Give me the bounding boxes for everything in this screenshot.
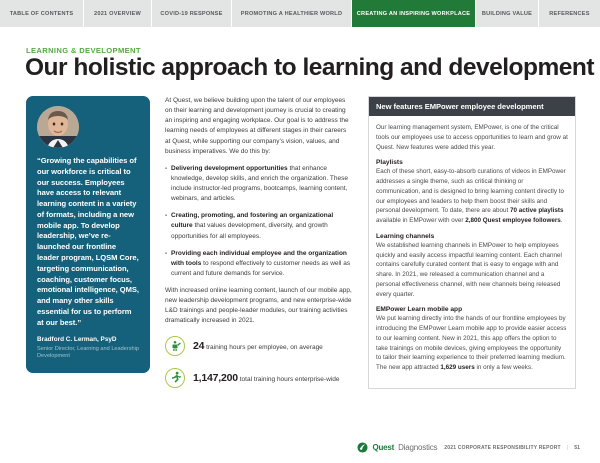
training-person-icon <box>165 336 185 356</box>
footer-report-title: 2021 CORPORATE RESPONSIBILITY REPORT <box>444 445 560 451</box>
highlight-stat: 2,800 Quest employee followers <box>465 217 561 224</box>
stat-value: 24 <box>193 340 204 352</box>
text-after: . <box>561 217 563 224</box>
intro-paragraph: At Quest, we believe building upon the t… <box>165 96 353 157</box>
nav-tab-label: PROMOTING A HEALTHIER WORLD <box>241 11 342 17</box>
text-mid: available in EMPower with over <box>376 217 465 224</box>
training-person-glyph <box>169 340 181 352</box>
stat-text: 1,147,200 total training hours enterpris… <box>193 368 339 386</box>
nav-tab-2021-overview[interactable]: 2021 OVERVIEW <box>84 0 152 27</box>
training-stats: 24 training hours per employee, on avera… <box>165 336 353 388</box>
stat-label: total training hours enterprise-wide <box>238 376 340 383</box>
text-mid: in only a few weeks. <box>475 364 533 371</box>
highlight-stat: 1,629 users <box>440 364 474 371</box>
page-title: Our holistic approach to learning and de… <box>25 54 594 82</box>
bullet-lead: Delivering development opportunities <box>171 165 288 172</box>
side-panel-paragraph-playlists: Each of these short, easy-to-absorb cura… <box>376 167 568 226</box>
bullet-dash-icon: - <box>165 164 167 174</box>
side-panel-title: New features EMPower employee developmen… <box>369 97 575 116</box>
nav-tab-building-value[interactable]: BUILDING VALUE <box>476 0 539 27</box>
side-panel: New features EMPower employee developmen… <box>368 96 576 389</box>
side-panel-heading-learning-channels: Learning channels <box>376 233 568 240</box>
bullet-dash-icon: - <box>165 249 167 259</box>
highlight-stat: 70 active playlists <box>510 207 564 214</box>
quest-diagnostics-logo-icon <box>357 442 368 453</box>
list-item: -Providing each individual employee and … <box>165 249 353 279</box>
top-navigation-bar: TABLE OF CONTENTS 2021 OVERVIEW COVID-19… <box>0 0 600 27</box>
nav-tab-label: BUILDING VALUE <box>482 11 532 17</box>
stat-row-total-training-hours: 1,147,200 total training hours enterpris… <box>165 368 353 388</box>
logo-text-diagnostics: Diagnostics <box>398 443 437 452</box>
nav-tab-label: COVID-19 RESPONSE <box>160 11 222 17</box>
main-content-column: At Quest, we believe building upon the t… <box>165 96 353 400</box>
stat-text: 24 training hours per employee, on avera… <box>193 336 323 354</box>
side-panel-intro: Our learning management system, EMPower,… <box>376 123 568 152</box>
text-before: We put learning directly into the hands … <box>376 315 566 371</box>
quote-author-name: Bradford C. Lerman, PsyD <box>37 336 139 344</box>
bullet-rest: that values development, diversity, and … <box>171 222 328 239</box>
list-item: -Delivering development opportunities th… <box>165 164 353 205</box>
nav-tab-table-of-contents[interactable]: TABLE OF CONTENTS <box>0 0 84 27</box>
list-item: -Creating, promoting, and fostering an o… <box>165 211 353 241</box>
side-panel-heading-playlists: Playlists <box>376 159 568 166</box>
approach-bullet-list: -Delivering development opportunities th… <box>165 164 353 279</box>
quote-author-role: Senior Director, Learning and Leadership… <box>37 346 139 361</box>
running-person-glyph <box>169 371 182 384</box>
nav-tab-label: REFERENCES <box>549 11 589 17</box>
stat-row-training-hours-per-employee: 24 training hours per employee, on avera… <box>165 336 353 356</box>
footer: QuestDiagnostics 2021 CORPORATE RESPONSI… <box>357 442 580 453</box>
footer-page-number: 51 <box>574 445 580 451</box>
stat-value: 1,147,200 <box>193 372 238 384</box>
closing-paragraph: With increased online learning content, … <box>165 286 353 327</box>
logo-text-quest: Quest <box>372 443 394 452</box>
right-column: New features EMPower employee developmen… <box>368 96 576 389</box>
side-panel-paragraph-learning-channels: We established learning channels in EMPo… <box>376 241 568 300</box>
left-column: “Growing the capabilities of our workfor… <box>26 96 150 373</box>
nav-tab-label: 2021 OVERVIEW <box>94 11 141 17</box>
side-panel-body: Our learning management system, EMPower,… <box>369 116 575 388</box>
running-person-icon <box>165 368 185 388</box>
quote-text: “Growing the capabilities of our workfor… <box>37 156 139 329</box>
nav-tab-covid-19-response[interactable]: COVID-19 RESPONSE <box>152 0 232 27</box>
nav-tab-references[interactable]: REFERENCES <box>539 0 600 27</box>
bullet-dash-icon: - <box>165 211 167 221</box>
footer-separator: | <box>567 445 568 451</box>
executive-quote-card: “Growing the capabilities of our workfor… <box>26 96 150 373</box>
nav-tab-creating-an-inspiring-workplace[interactable]: CREATING AN INSPIRING WORKPLACE <box>352 0 476 27</box>
side-panel-paragraph-empower-learn-mobile-app: We put learning directly into the hands … <box>376 314 568 373</box>
portrait-photo-icon <box>37 106 79 148</box>
nav-tab-label: TABLE OF CONTENTS <box>10 11 74 17</box>
side-panel-heading-empower-learn-mobile-app: EMPower Learn mobile app <box>376 306 568 313</box>
nav-tab-label: CREATING AN INSPIRING WORKPLACE <box>357 11 470 17</box>
nav-tab-promoting-a-healthier-world[interactable]: PROMOTING A HEALTHIER WORLD <box>232 0 352 27</box>
avatar <box>37 106 79 148</box>
stat-label: training hours per employee, on average <box>204 344 323 351</box>
